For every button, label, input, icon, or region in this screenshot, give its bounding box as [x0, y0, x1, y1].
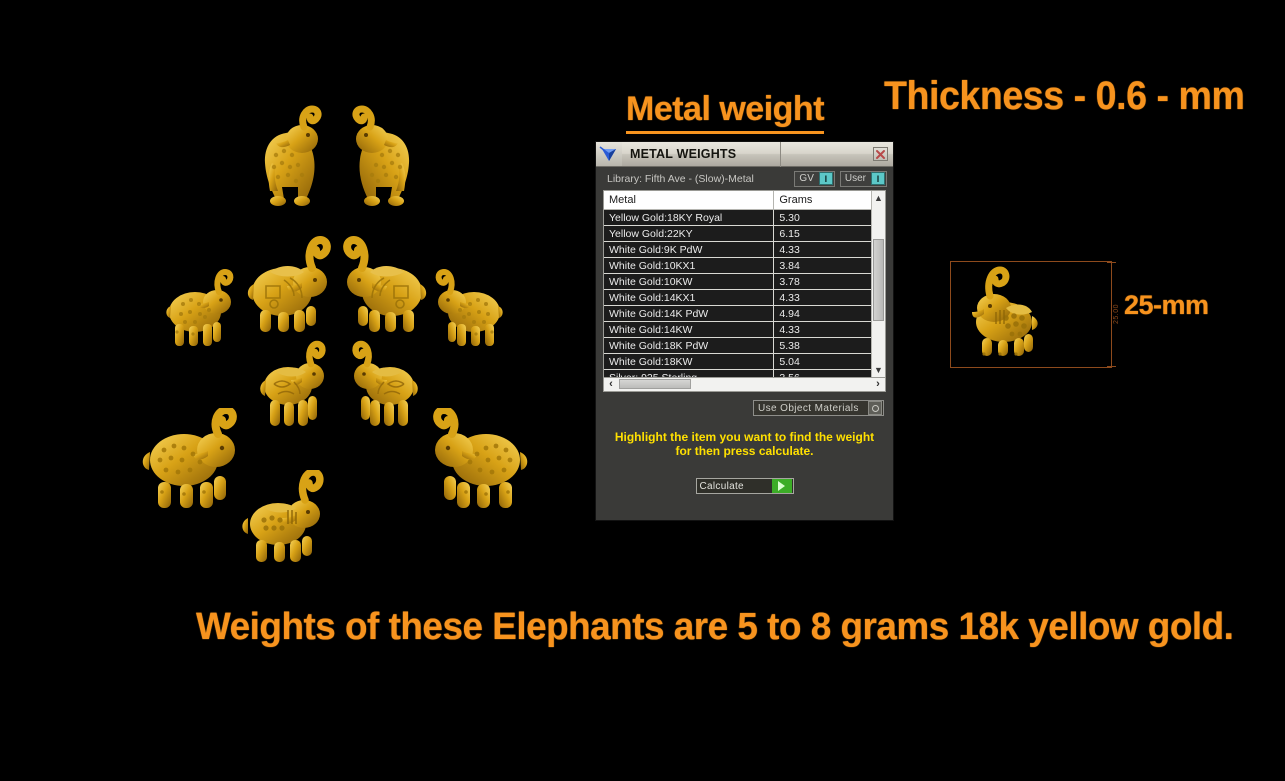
cell-metal: Silver:.925 Sterling	[604, 370, 774, 377]
cell-metal: White Gold:18K PdW	[604, 338, 774, 353]
library-row: Library: Fifth Ave - (Slow)-Metal GV I U…	[596, 167, 893, 190]
cell-grams: 5.04	[774, 354, 871, 369]
table-row[interactable]: White Gold:18KW5.04	[604, 354, 871, 370]
cell-grams: 3.56	[774, 370, 871, 377]
library-label: Library: Fifth Ave - (Slow)-Metal	[607, 173, 789, 185]
table-row[interactable]: Yellow Gold:22KY6.15	[604, 226, 871, 242]
elephant-figure	[246, 103, 336, 208]
elephant-figure	[424, 408, 532, 512]
annotation-bottom-caption: Weights of these Elephants are 5 to 8 gr…	[196, 606, 1233, 649]
table-row[interactable]: White Gold:18K PdW5.38	[604, 338, 871, 354]
table-row[interactable]: Yellow Gold:18KY Royal5.30	[604, 210, 871, 226]
gv-toggle[interactable]: GV I	[794, 171, 834, 187]
dimension-tick-top	[1107, 262, 1116, 263]
cell-grams: 3.84	[774, 258, 871, 273]
scroll-down-icon[interactable]: ▼	[872, 363, 885, 377]
elephant-figure	[338, 230, 434, 340]
use-object-materials-indicator	[868, 401, 882, 415]
elephant-figure	[157, 262, 239, 352]
hint-line-2: for then press calculate.	[608, 444, 881, 458]
table-body: Yellow Gold:18KY Royal5.30Yellow Gold:22…	[604, 210, 871, 377]
annotation-thickness: Thickness - 0.6 - mm	[884, 74, 1244, 119]
cell-metal: White Gold:18KW	[604, 354, 774, 369]
scroll-left-icon[interactable]: ‹	[604, 378, 618, 390]
user-toggle-label: User	[841, 173, 870, 184]
cell-grams: 4.33	[774, 242, 871, 257]
elephant-figure	[138, 408, 246, 512]
gv-toggle-indicator: I	[819, 172, 833, 185]
cell-metal: White Gold:9K PdW	[604, 242, 774, 257]
calculate-label: Calculate	[697, 481, 772, 492]
metal-weights-dialog: METAL WEIGHTS Library: Fifth Ave - (Slow…	[595, 141, 894, 521]
table-header-row: Metal Grams	[604, 191, 871, 210]
table-row[interactable]: White Gold:10KX13.84	[604, 258, 871, 274]
cell-grams: 4.33	[774, 290, 871, 305]
table-row[interactable]: White Gold:14KX14.33	[604, 290, 871, 306]
table-row[interactable]: White Gold:9K PdW4.33	[604, 242, 871, 258]
screenshot-canvas: 25.00 Metal weight Thickness - 0.6 - mm …	[0, 0, 1285, 781]
cell-metal: Yellow Gold:18KY Royal	[604, 210, 774, 225]
table-row[interactable]: White Gold:14KW4.33	[604, 322, 871, 338]
play-arrow-icon	[772, 479, 792, 493]
cell-metal: White Gold:14K PdW	[604, 306, 774, 321]
vertical-scroll-thumb[interactable]	[873, 239, 884, 321]
dimension-value-label: 25.00	[1113, 304, 1120, 324]
metal-weights-table: Metal Grams Yellow Gold:18KY Royal5.30Ye…	[603, 190, 886, 378]
cell-metal: White Gold:10KX1	[604, 258, 774, 273]
cell-grams: 5.38	[774, 338, 871, 353]
column-header-metal[interactable]: Metal	[604, 191, 774, 209]
table-row[interactable]: Silver:.925 Sterling3.56	[604, 370, 871, 377]
cell-metal: White Gold:14KW	[604, 322, 774, 337]
cell-grams: 5.30	[774, 210, 871, 225]
cell-metal: White Gold:10KW	[604, 274, 774, 289]
elephant-figure	[430, 262, 512, 352]
dialog-titlebar[interactable]: METAL WEIGHTS	[596, 142, 893, 167]
scroll-right-icon[interactable]: ›	[871, 378, 885, 390]
use-object-materials-label: Use Object Materials	[754, 403, 868, 414]
gem-cone-icon	[596, 142, 622, 166]
table-row[interactable]: White Gold:14K PdW4.94	[604, 306, 871, 322]
use-object-materials-row: Use Object Materials	[596, 392, 893, 416]
elephant-figure	[240, 230, 336, 340]
elephant-figure	[344, 340, 424, 438]
cell-grams: 3.78	[774, 274, 871, 289]
elephant-figure	[254, 340, 334, 438]
elephant-figure	[338, 103, 428, 208]
dimension-tick-bottom	[1107, 366, 1116, 367]
user-toggle-indicator: I	[871, 172, 885, 185]
cell-grams: 4.94	[774, 306, 871, 321]
close-icon[interactable]	[873, 147, 888, 161]
dialog-title: METAL WEIGHTS	[622, 147, 736, 161]
elephant-figure	[238, 470, 334, 570]
gv-toggle-label: GV	[795, 173, 817, 184]
table-row[interactable]: White Gold:10KW3.78	[604, 274, 871, 290]
dimension-bounding-box: 25.00	[950, 261, 1112, 368]
titlebar-divider	[780, 142, 781, 167]
column-header-grams[interactable]: Grams	[774, 191, 871, 209]
cell-grams: 4.33	[774, 322, 871, 337]
vertical-scrollbar[interactable]: ▲ ▼	[871, 191, 885, 377]
hint-text: Highlight the item you want to find the …	[596, 430, 893, 458]
hint-line-1: Highlight the item you want to find the …	[608, 430, 881, 444]
use-object-materials-button[interactable]: Use Object Materials	[753, 400, 884, 416]
table-columns: Metal Grams Yellow Gold:18KY Royal5.30Ye…	[604, 191, 871, 377]
calculate-row: Calculate	[596, 478, 893, 494]
annotation-size: 25-mm	[1124, 290, 1209, 321]
scroll-up-icon[interactable]: ▲	[872, 191, 885, 205]
cell-metal: White Gold:14KX1	[604, 290, 774, 305]
horizontal-scrollbar[interactable]: ‹ ›	[603, 378, 886, 392]
calculate-button[interactable]: Calculate	[696, 478, 794, 494]
cell-grams: 6.15	[774, 226, 871, 241]
annotation-metal-weight: Metal weight	[626, 92, 824, 134]
horizontal-scroll-thumb[interactable]	[619, 379, 691, 389]
user-toggle[interactable]: User I	[840, 171, 887, 187]
cell-metal: Yellow Gold:22KY	[604, 226, 774, 241]
